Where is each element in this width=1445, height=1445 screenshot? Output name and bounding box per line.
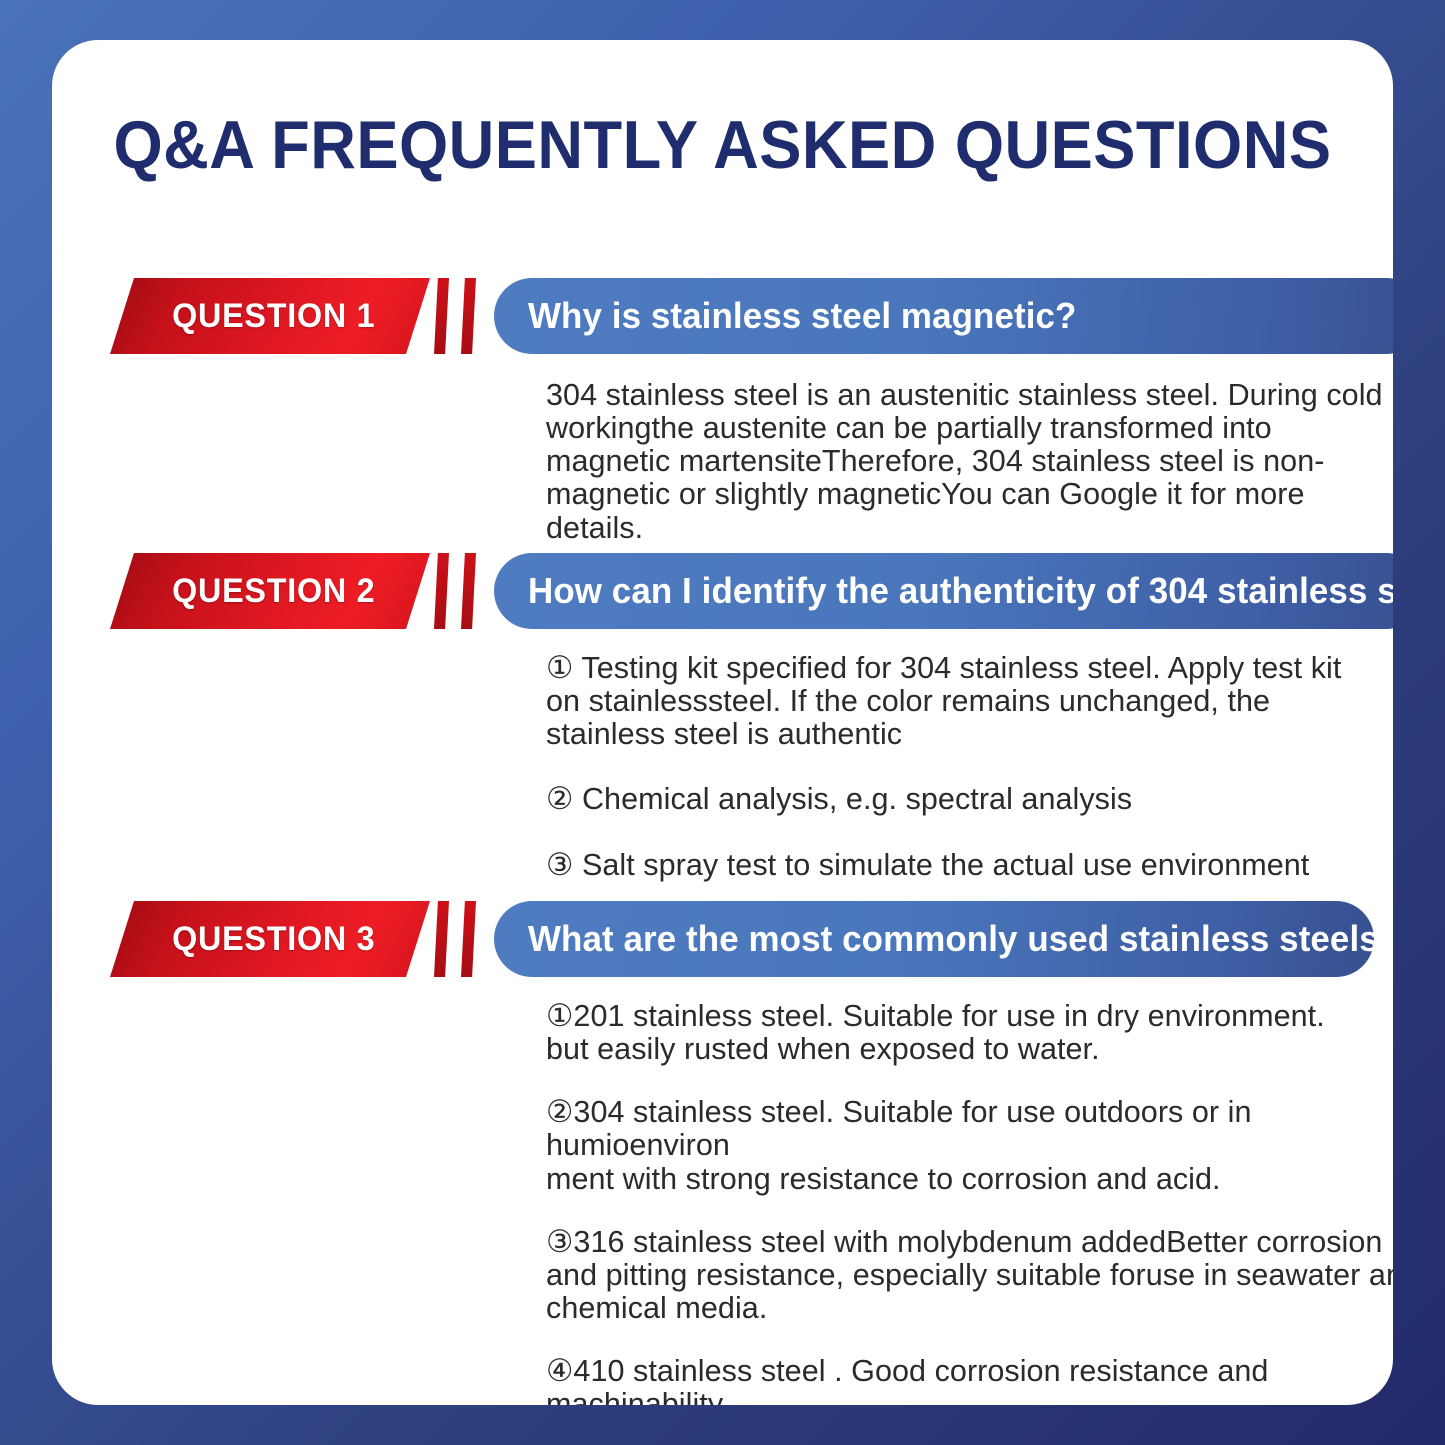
answer-paragraph: 304 stainless steel is an austenitic sta… bbox=[546, 378, 1393, 544]
question-banner-1: QUESTION 1 Why is stainless steel magnet… bbox=[52, 278, 1393, 354]
answer-paragraph: ② Chemical analysis, e.g. spectral analy… bbox=[546, 782, 1344, 815]
slash-separator-icon bbox=[434, 901, 449, 977]
slash-separator-icon bbox=[461, 553, 476, 629]
question-tag-label-3: QUESTION 3 bbox=[172, 920, 375, 959]
question-text-3: What are the most commonly used stainles… bbox=[528, 918, 1393, 960]
faq-item-3: QUESTION 3 What are the most commonly us… bbox=[52, 901, 1393, 977]
question-tag-3[interactable]: QUESTION 3 bbox=[110, 901, 430, 977]
question-banner-2: QUESTION 2 How can I identify the authen… bbox=[52, 553, 1393, 629]
question-banner-3: QUESTION 3 What are the most commonly us… bbox=[52, 901, 1393, 977]
slash-separator-icon bbox=[461, 901, 476, 977]
answer-body-2: ① Testing kit specified for 304 stainles… bbox=[546, 651, 1344, 881]
question-tag-label-2: QUESTION 2 bbox=[172, 572, 375, 611]
answer-body-1: 304 stainless steel is an austenitic sta… bbox=[546, 378, 1393, 544]
question-text-1: Why is stainless steel magnetic? bbox=[528, 295, 1076, 337]
faq-item-1: QUESTION 1 Why is stainless steel magnet… bbox=[52, 278, 1393, 354]
answer-paragraph: ① Testing kit specified for 304 stainles… bbox=[546, 651, 1344, 750]
answer-body-3: ①201 stainless steel. Suitable for use i… bbox=[546, 999, 1393, 1405]
faq-item-2: QUESTION 2 How can I identify the authen… bbox=[52, 553, 1393, 629]
answer-paragraph: ③ Salt spray test to simulate the actual… bbox=[546, 848, 1344, 881]
question-pill-2[interactable]: How can I identify the authenticity of 3… bbox=[494, 553, 1393, 629]
slash-separator-icon bbox=[434, 278, 449, 354]
answer-paragraph: ②304 stainless steel. Suitable for use o… bbox=[546, 1095, 1393, 1194]
slash-separator-icon bbox=[461, 278, 476, 354]
question-pill-3[interactable]: What are the most commonly used stainles… bbox=[494, 901, 1374, 977]
faq-card: Q&A FREQUENTLY ASKED QUESTIONS QUESTION … bbox=[52, 40, 1393, 1405]
question-tag-2[interactable]: QUESTION 2 bbox=[110, 553, 430, 629]
faq-page: Q&A FREQUENTLY ASKED QUESTIONS QUESTION … bbox=[0, 0, 1445, 1445]
answer-paragraph: ④410 stainless steel . Good corrosion re… bbox=[546, 1354, 1393, 1405]
question-tag-label-1: QUESTION 1 bbox=[172, 297, 375, 336]
question-tag-1[interactable]: QUESTION 1 bbox=[110, 278, 430, 354]
answer-paragraph: ①201 stainless steel. Suitable for use i… bbox=[546, 999, 1393, 1065]
page-title: Q&A FREQUENTLY ASKED QUESTIONS bbox=[99, 106, 1346, 184]
answer-paragraph: ③316 stainless steel with molybdenum add… bbox=[546, 1225, 1393, 1324]
question-pill-1[interactable]: Why is stainless steel magnetic? bbox=[494, 278, 1393, 354]
slash-separator-icon bbox=[434, 553, 449, 629]
question-text-2: How can I identify the authenticity of 3… bbox=[528, 570, 1393, 612]
